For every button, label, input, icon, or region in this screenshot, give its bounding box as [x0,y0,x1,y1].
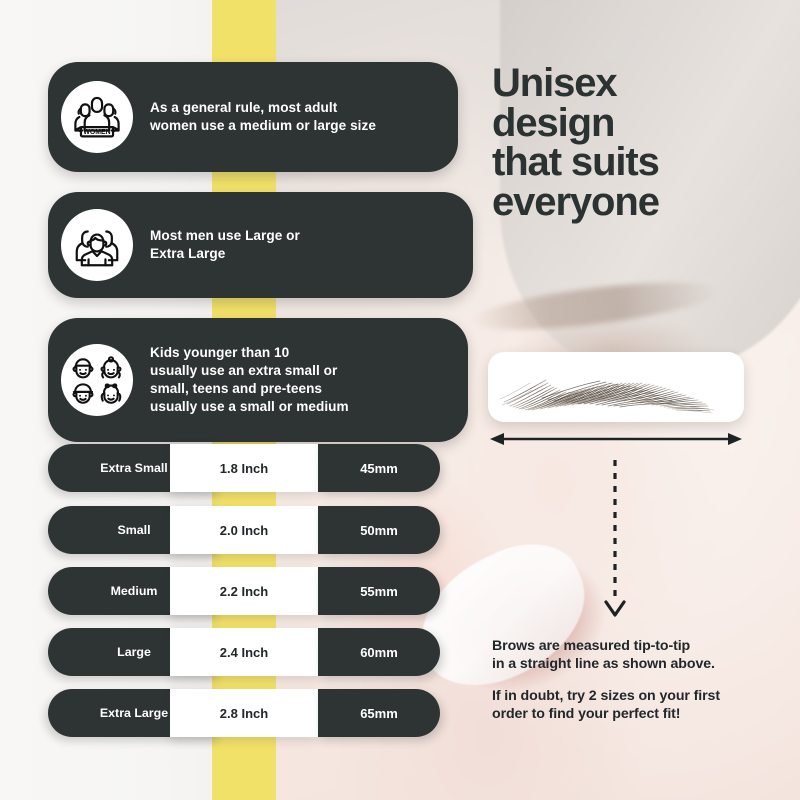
women-icon-caption: WOMEN [83,129,110,136]
card-women-line-1: As a general rule, most adult [150,99,376,117]
row-mm-cell: 55mm [318,567,440,615]
table-row: Medium 2.2 Inch 55mm [48,567,440,615]
row-inch-label: 2.2 Inch [220,584,268,599]
note-2-line-2: order to find your perfect fit! [492,706,797,724]
table-row: Extra Large 2.8 Inch 65mm [48,689,440,737]
info-card-kids: Kids younger than 10 usually use an extr… [48,318,468,442]
row-inch-cell: 2.8 Inch [170,689,318,737]
info-card-men-text: Most men use Large or Extra Large [150,227,300,263]
page-title: Unisex design that suits everyone [492,64,792,222]
card-kids-line-2: usually use an extra small or [150,362,349,380]
row-mm-label: 50mm [360,523,398,538]
row-inch-label: 2.8 Inch [220,706,268,721]
headline-line-2: design [492,104,792,144]
row-size-label: Extra Large [100,706,168,720]
table-row: Extra Small 1.8 Inch 45mm [48,444,440,492]
row-inch-cell: 1.8 Inch [170,444,318,492]
row-mm-cell: 65mm [318,689,440,737]
headline-line-4: everyone [492,183,792,223]
row-inch-cell: 2.4 Inch [170,628,318,676]
note-2-line-1: If in doubt, try 2 sizes on your first [492,688,797,706]
men-group-icon [61,209,133,281]
row-mm-cell: 60mm [318,628,440,676]
card-kids-line-1: Kids younger than 10 [150,344,349,362]
row-mm-label: 55mm [360,584,398,599]
dashed-down-arrow-icon [600,458,630,623]
row-size-label: Large [117,645,151,659]
info-card-women-text: As a general rule, most adult women use … [150,99,376,135]
row-inch-label: 2.0 Inch [220,523,268,538]
kids-group-icon [61,344,133,416]
table-row: Large 2.4 Inch 60mm [48,628,440,676]
table-row: Small 2.0 Inch 50mm [48,506,440,554]
row-mm-label: 65mm [360,706,398,721]
row-size-label: Medium [111,584,158,598]
eyebrow-image [488,352,744,422]
info-card-kids-text: Kids younger than 10 usually use an extr… [150,344,349,416]
row-inch-label: 1.8 Inch [220,461,268,476]
row-mm-cell: 50mm [318,506,440,554]
row-inch-cell: 2.0 Inch [170,506,318,554]
double-arrow-icon [488,430,744,448]
row-mm-cell: 45mm [318,444,440,492]
row-size-label: Small [117,523,150,537]
row-size-label: Extra Small [100,461,168,475]
eyebrow-sample-card [488,352,744,422]
measurement-note: Brows are measured tip-to-tip in a strai… [492,638,792,674]
row-inch-cell: 2.2 Inch [170,567,318,615]
row-inch-label: 2.4 Inch [220,645,268,660]
row-mm-label: 45mm [360,461,398,476]
headline-line-3: that suits [492,143,792,183]
row-mm-label: 60mm [360,645,398,660]
card-kids-line-3: small, teens and pre-teens [150,380,349,398]
card-men-line-2: Extra Large [150,245,300,263]
card-women-line-2: women use a medium or large size [150,117,376,135]
headline-line-1: Unisex [492,64,792,104]
note-1-line-1: Brows are measured tip-to-tip [492,638,792,656]
note-1-line-2: in a straight line as shown above. [492,656,792,674]
card-kids-line-4: usually use a small or medium [150,398,349,416]
women-group-icon: WOMEN [61,81,133,153]
card-men-line-1: Most men use Large or [150,227,300,245]
infographic-canvas: Unisex design that suits everyone WOMEN … [0,0,800,800]
info-card-men: Most men use Large or Extra Large [48,192,473,298]
info-card-women: WOMEN As a general rule, most adult wome… [48,62,458,172]
sizing-advice-note: If in doubt, try 2 sizes on your first o… [492,688,797,724]
